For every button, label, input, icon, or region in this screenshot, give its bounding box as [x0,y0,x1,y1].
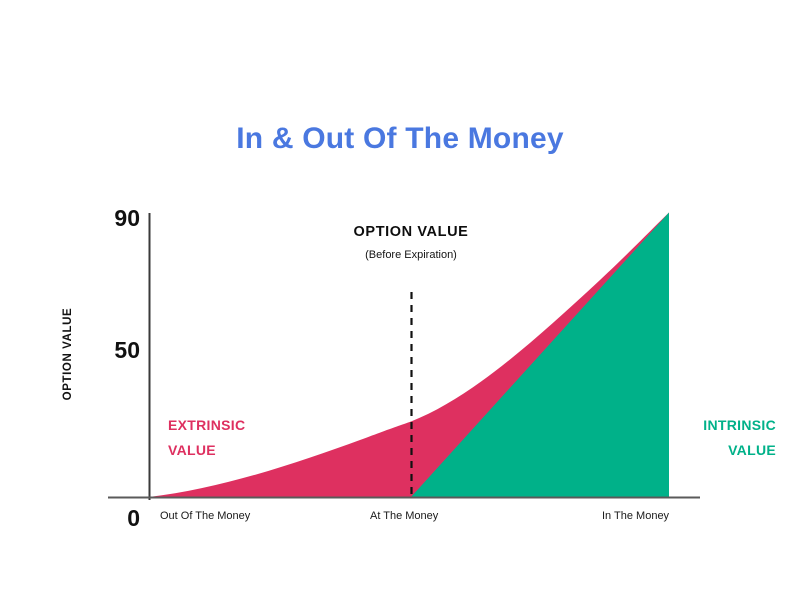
option-value-annotation-subtitle: (Before Expiration) [311,249,511,261]
extrinsic-value-label-line1: EXTRINSIC [168,413,245,438]
y-axis-title: OPTION VALUE [62,274,74,434]
intrinsic-value-label-line1: INTRINSIC [640,413,776,438]
chart-canvas: In & Out Of The Money 90 50 0 OPTION VAL… [0,0,800,600]
y-axis-tick-90: 90 [94,205,140,232]
x-axis-tick-in-the-money: In The Money [602,510,669,522]
intrinsic-value-label-line2: VALUE [640,438,776,463]
extrinsic-value-label: EXTRINSIC VALUE [168,413,245,463]
option-value-annotation: OPTION VALUE (Before Expiration) [311,224,511,261]
y-axis-tick-0: 0 [94,505,140,532]
intrinsic-value-label: INTRINSIC VALUE [640,413,776,463]
extrinsic-value-label-line2: VALUE [168,438,245,463]
x-axis-tick-at-the-money: At The Money [370,510,438,522]
x-axis-tick-out-of-the-money: Out Of The Money [160,510,250,522]
y-axis-tick-50: 50 [94,337,140,364]
option-value-annotation-title: OPTION VALUE [311,224,511,240]
